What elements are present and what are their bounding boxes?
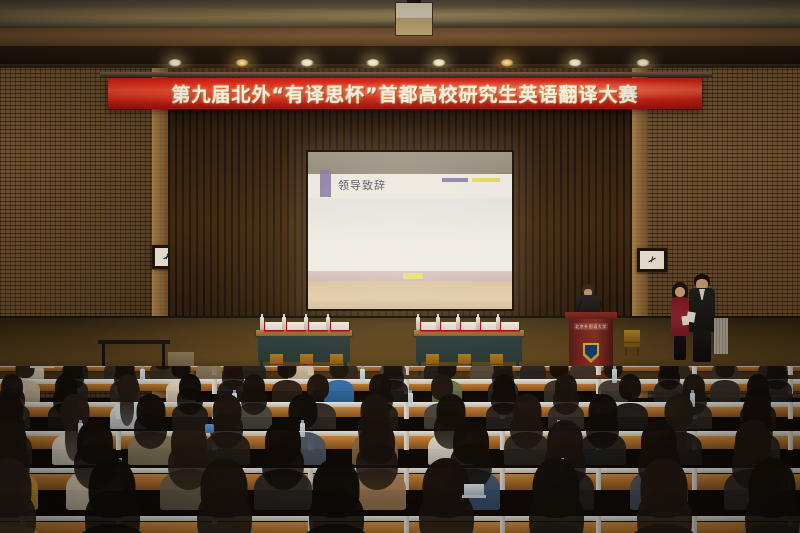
audience-member-long-hair: [85, 491, 140, 533]
chair-back: [330, 354, 343, 364]
chair-back: [270, 354, 283, 364]
audience-member-long-hair: [553, 388, 579, 415]
host-man-script-card: [686, 311, 695, 322]
auditorium-screenshot: 第九届北外“有译思杯”首都高校研究生英语翻译大赛 领导致辞: [0, 0, 800, 533]
rail-post: [596, 468, 601, 490]
table-top: [98, 340, 170, 344]
ceiling-spotlight: [432, 59, 446, 67]
laptop-base: [462, 495, 486, 498]
host-in-black-suit: [689, 274, 715, 362]
audience-member-head: [716, 366, 735, 378]
water-bottle: [416, 317, 420, 330]
podium-name-plate: 北京外国语大学: [574, 323, 608, 330]
chair-back: [624, 330, 640, 342]
university-emblem-icon: [583, 343, 599, 363]
ceiling-spotlight: [500, 59, 514, 67]
slide-top-band: [308, 152, 512, 174]
water-bottle: [436, 317, 440, 330]
host-woman-face: [675, 287, 685, 297]
audience-seating-area: [0, 366, 800, 533]
chair-leg: [637, 347, 639, 356]
ceiling-spotlight: [366, 59, 380, 67]
slide-yellow-chip: [403, 273, 423, 279]
judge-name-card: [308, 322, 328, 331]
water-bottle: [496, 317, 500, 330]
event-banner: 第九届北外“有译思杯”首都高校研究生英语翻译大赛: [108, 78, 702, 109]
ceiling-spotlight: [235, 59, 249, 67]
chair-back: [458, 354, 471, 364]
water-bottle: [282, 317, 286, 330]
judge-name-card: [286, 322, 306, 331]
audience-member: [0, 458, 46, 533]
audience-member: [298, 458, 374, 533]
audience-blue-cup: [205, 424, 214, 433]
audience-member: [186, 458, 262, 533]
host-man-legs: [693, 331, 711, 362]
podium-name-plate-text: 北京外国语大学: [574, 323, 608, 330]
audience-member-long-hair: [529, 491, 584, 533]
host-woman-legs: [674, 336, 686, 360]
judge-name-card: [264, 322, 284, 331]
ceiling-projector-box: [395, 2, 433, 36]
operator-laptop: [30, 366, 54, 368]
event-banner-text: 第九届北外“有译思杯”首都高校研究生英语翻译大赛: [172, 80, 639, 107]
ceiling-spotlight: [300, 59, 314, 67]
table-leg: [162, 344, 165, 368]
judge-name-card: [500, 322, 520, 331]
projection-screen-frame: 领导致辞: [306, 150, 514, 311]
projection-screen: 领导致辞: [308, 152, 512, 309]
audience-member-long-hair: [309, 491, 364, 533]
audience-water-bottle: [408, 393, 413, 407]
slide-title: 领导致辞: [338, 177, 386, 193]
audience-member-long-hair: [197, 491, 252, 533]
podium-top: [565, 312, 617, 319]
audience-member-long-hair: [745, 491, 800, 533]
laptop-screen: [464, 484, 484, 495]
chair-back: [426, 354, 439, 364]
rail-post: [500, 468, 505, 490]
stage-radiator: [714, 318, 728, 354]
audience-member-long-hair: [177, 388, 203, 415]
audience-member: [74, 458, 150, 533]
rail-post: [788, 431, 793, 450]
rail-post: [788, 402, 793, 419]
rail-post: [596, 516, 601, 533]
audience-member: [518, 458, 594, 533]
chair-back: [300, 354, 313, 364]
audience-laptop: [462, 484, 486, 498]
judge-name-card: [330, 322, 350, 331]
stage-side-table-left: [98, 340, 170, 368]
banner-rail: [100, 72, 712, 77]
water-bottle: [476, 317, 480, 330]
water-bottle: [260, 317, 264, 330]
water-bottle: [304, 317, 308, 330]
slide-purple-accent-bar: [320, 170, 331, 197]
slide-accent-yellow: [472, 178, 500, 182]
audience-member-long-hair: [637, 491, 692, 533]
audience-member: [626, 458, 702, 533]
water-bottle: [456, 317, 460, 330]
audience-member: [734, 458, 800, 533]
laptop-base: [30, 366, 54, 368]
water-bottle: [326, 317, 330, 330]
wall-clock-right-icon: [637, 248, 667, 272]
ceiling-spotlight: [168, 59, 182, 67]
ceiling-spotlight: [636, 59, 650, 67]
ceiling-spotlight: [568, 59, 582, 67]
rail-post: [500, 516, 505, 533]
chair-back: [490, 354, 503, 364]
audience-member-head: [278, 366, 297, 378]
rail-post: [212, 379, 217, 394]
stage-chair: [624, 330, 640, 356]
chair-leg: [625, 347, 627, 356]
slide-accent-purple: [442, 178, 468, 182]
slide-bottom-band: [308, 281, 512, 309]
table-leg: [102, 344, 105, 368]
